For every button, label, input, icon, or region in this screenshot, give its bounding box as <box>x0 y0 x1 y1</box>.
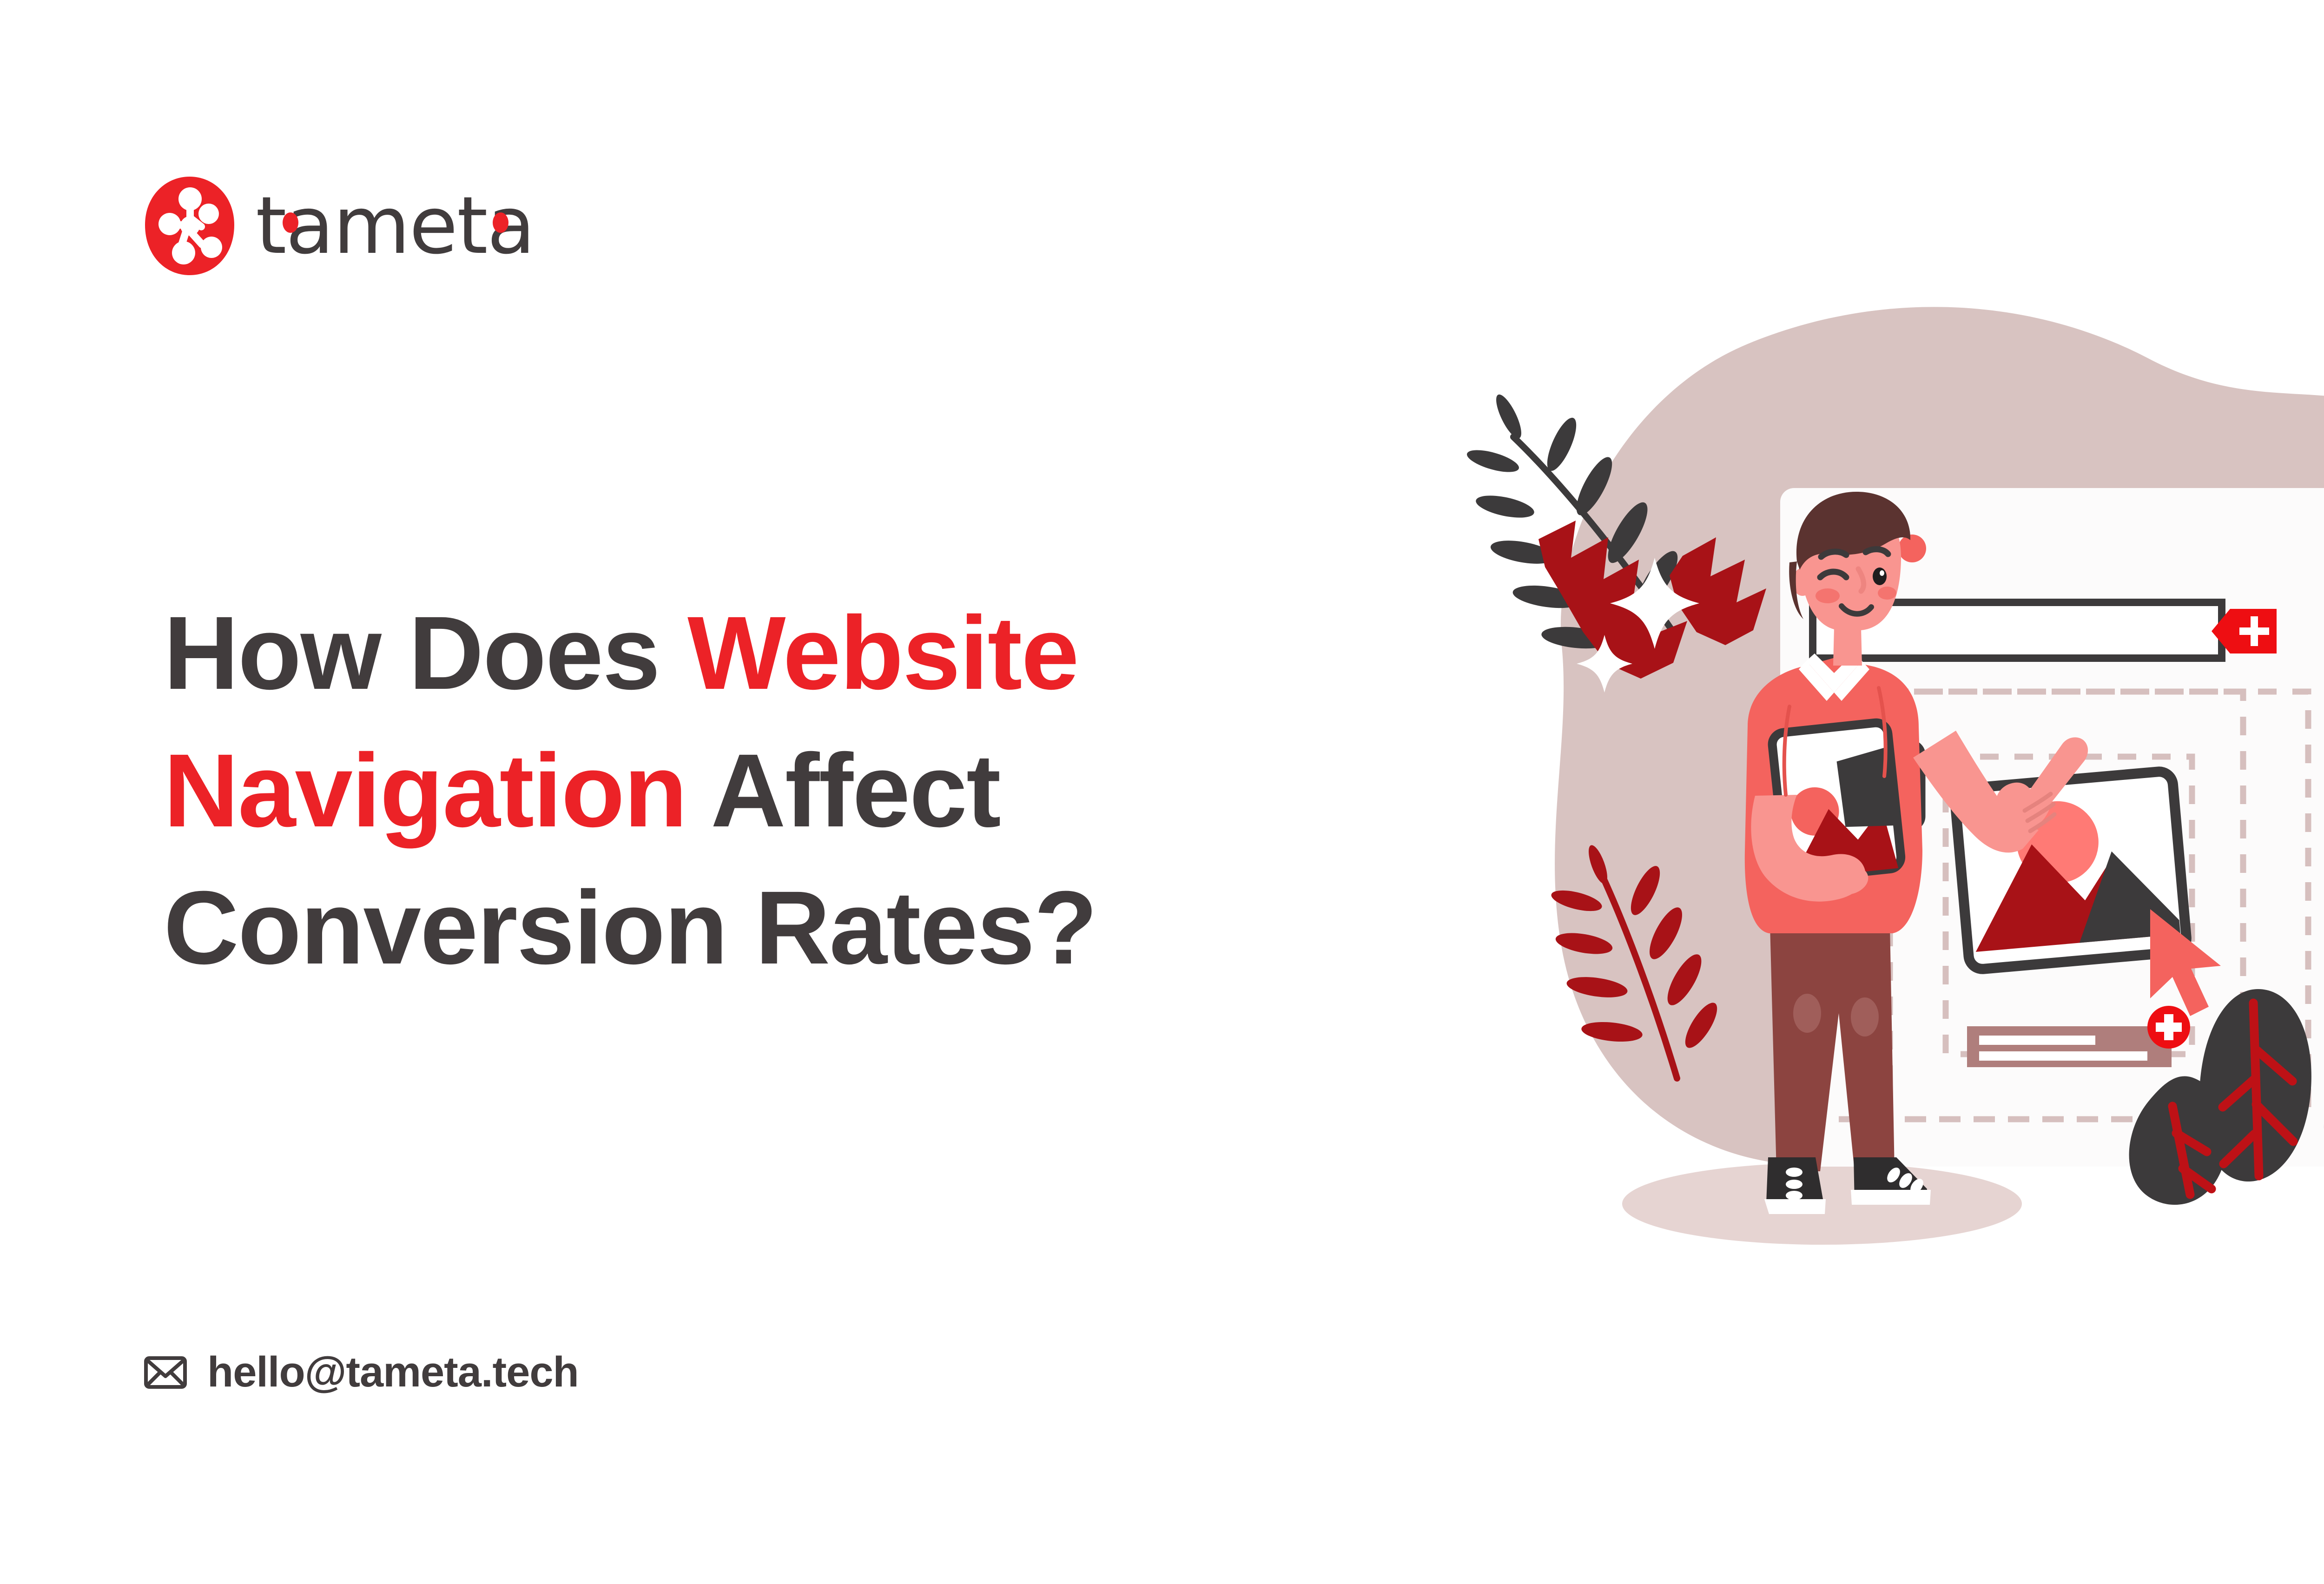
text-placeholder-icon <box>1967 1026 2172 1067</box>
headline-seg-how-does: How Does <box>164 595 687 711</box>
headline-seg-affect: Affect <box>687 733 1000 849</box>
logo-dot-t2 <box>493 212 508 233</box>
contact-email[interactable]: hello@tameta.tech <box>144 1348 579 1397</box>
brand-wordmark: tameta <box>256 186 535 265</box>
envelope-icon <box>144 1356 187 1389</box>
browser-dot-3 <box>1898 535 1926 562</box>
plus-circle-icon <box>2147 1006 2190 1049</box>
headline-line-3: Conversion Rates? <box>164 859 1353 997</box>
shoe-left <box>1764 1157 1826 1214</box>
headline-seg-website: Website <box>687 595 1078 711</box>
email-address-text: hello@tameta.tech <box>207 1348 579 1397</box>
headline-seg-conversion-rates: Conversion Rates? <box>164 870 1096 986</box>
headline-seg-navigation: Navigation <box>164 733 687 849</box>
logo-dot-t1 <box>283 212 298 233</box>
page-title: How Does Website Navigation Affect Conve… <box>164 585 1353 997</box>
headline-line-2: Navigation Affect <box>164 722 1353 860</box>
brand-logo[interactable]: tameta <box>144 176 535 276</box>
molecule-network-icon <box>144 176 235 276</box>
headline-line-1: How Does Website <box>164 585 1353 722</box>
web-design-person-illustration <box>1422 260 2324 1283</box>
